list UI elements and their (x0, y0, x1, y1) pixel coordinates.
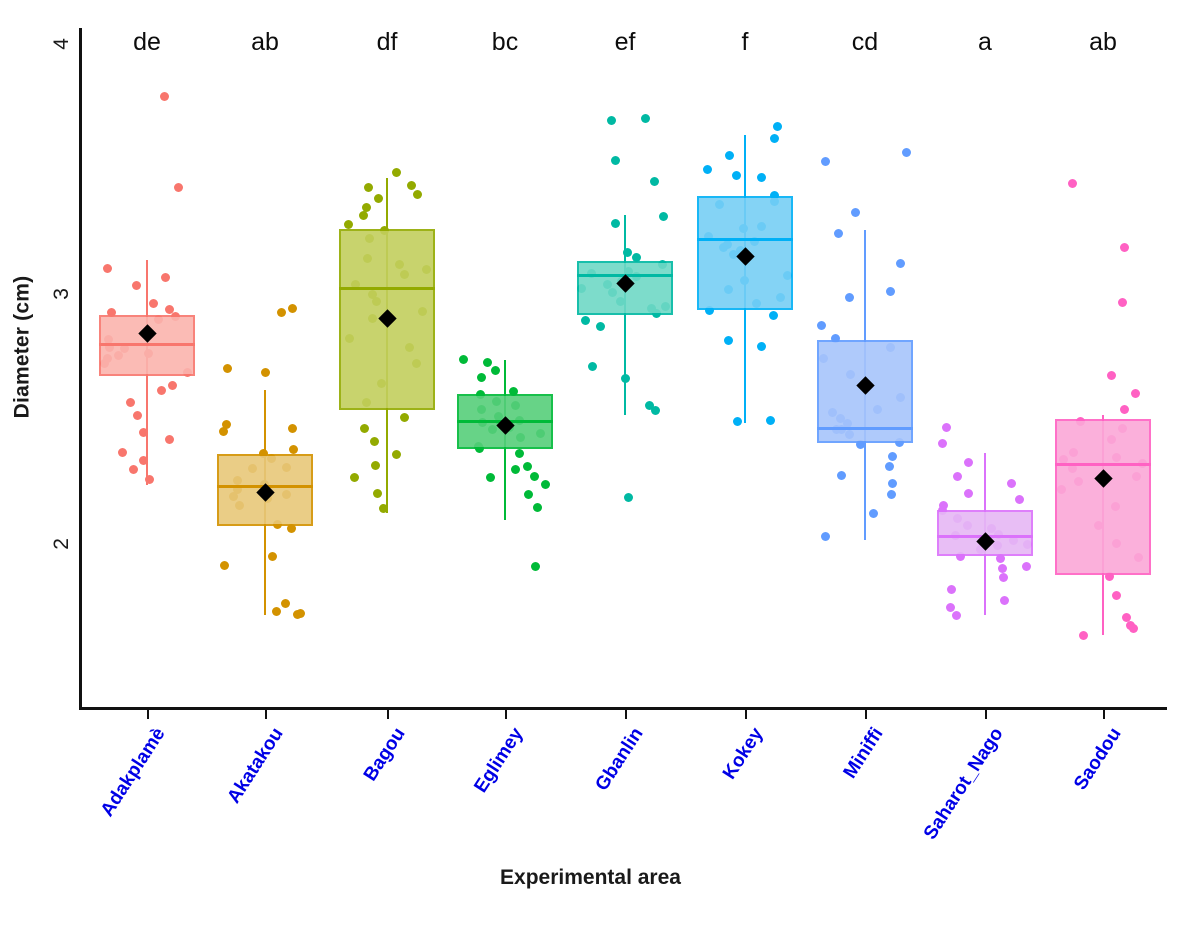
data-point (947, 585, 956, 594)
data-point (581, 316, 590, 325)
data-point (371, 461, 380, 470)
data-point (281, 599, 290, 608)
data-point (483, 358, 492, 367)
data-point (364, 183, 373, 192)
data-point (885, 462, 894, 471)
data-point (1007, 479, 1016, 488)
data-point (407, 181, 416, 190)
median-line (817, 427, 913, 430)
data-point (541, 480, 550, 489)
median-line (339, 287, 435, 290)
data-point (886, 287, 895, 296)
data-point (998, 564, 1007, 573)
data-point (533, 503, 542, 512)
data-point (103, 264, 112, 273)
data-point (379, 504, 388, 513)
data-point (168, 381, 177, 390)
data-point (732, 171, 741, 180)
data-point (817, 321, 826, 330)
data-point (157, 386, 166, 395)
data-point (530, 472, 539, 481)
data-point (360, 424, 369, 433)
data-point (296, 609, 305, 618)
data-point (623, 248, 632, 257)
data-point (770, 134, 779, 143)
data-point (1107, 371, 1116, 380)
data-point (611, 156, 620, 165)
data-point (773, 122, 782, 131)
data-point (1022, 562, 1031, 571)
data-point (511, 465, 520, 474)
data-point (651, 406, 660, 415)
x-axis-title: Experimental area (0, 866, 1181, 890)
data-point (370, 437, 379, 446)
data-point (953, 472, 962, 481)
box-saodou (1055, 419, 1151, 575)
data-point (174, 183, 183, 192)
data-point (769, 311, 778, 320)
data-point (821, 532, 830, 541)
data-point (288, 424, 297, 433)
data-point (139, 428, 148, 437)
data-point (261, 368, 270, 377)
data-point (392, 450, 401, 459)
data-point (724, 336, 733, 345)
data-point (902, 148, 911, 157)
data-point (757, 342, 766, 351)
data-point (289, 445, 298, 454)
plot-area (0, 0, 1181, 913)
data-point (477, 373, 486, 382)
data-point (220, 561, 229, 570)
data-point (126, 398, 135, 407)
data-point (145, 475, 154, 484)
data-point (486, 473, 495, 482)
data-point (129, 465, 138, 474)
data-point (344, 220, 353, 229)
data-point (223, 364, 232, 373)
data-point (160, 92, 169, 101)
median-line (1055, 463, 1151, 466)
data-point (834, 229, 843, 238)
data-point (277, 308, 286, 317)
data-point (374, 194, 383, 203)
data-point (118, 448, 127, 457)
data-point (733, 417, 742, 426)
data-point (491, 366, 500, 375)
data-point (659, 212, 668, 221)
data-point (888, 479, 897, 488)
data-point (1120, 243, 1129, 252)
data-point (845, 293, 854, 302)
data-point (149, 299, 158, 308)
data-point (524, 490, 533, 499)
boxplot-figure: Diameter (cm) 234 AdakplamèAkatakouBagou… (0, 0, 1181, 913)
data-point (887, 490, 896, 499)
data-point (896, 259, 905, 268)
data-point (1131, 389, 1140, 398)
data-point (607, 116, 616, 125)
data-point (1015, 495, 1024, 504)
data-point (725, 151, 734, 160)
data-point (413, 190, 422, 199)
data-point (611, 219, 620, 228)
data-point (350, 473, 359, 482)
data-point (624, 493, 633, 502)
data-point (641, 114, 650, 123)
data-point (766, 416, 775, 425)
data-point (821, 157, 830, 166)
data-point (999, 573, 1008, 582)
data-point (531, 562, 540, 571)
data-point (952, 611, 961, 620)
data-point (964, 489, 973, 498)
data-point (1129, 624, 1138, 633)
data-point (133, 411, 142, 420)
data-point (964, 458, 973, 467)
data-point (938, 439, 947, 448)
data-point (219, 427, 228, 436)
data-point (1068, 179, 1077, 188)
data-point (1118, 298, 1127, 307)
data-point (400, 413, 409, 422)
median-line (697, 238, 793, 241)
data-point (523, 462, 532, 471)
data-point (650, 177, 659, 186)
data-point (1120, 405, 1129, 414)
data-point (139, 456, 148, 465)
data-point (942, 423, 951, 432)
data-point (1112, 591, 1121, 600)
data-point (268, 552, 277, 561)
data-point (515, 449, 524, 458)
data-point (392, 168, 401, 177)
data-point (459, 355, 468, 364)
data-point (837, 471, 846, 480)
data-point (161, 273, 170, 282)
data-point (373, 489, 382, 498)
data-point (1079, 631, 1088, 640)
data-point (272, 607, 281, 616)
data-point (888, 452, 897, 461)
data-point (1000, 596, 1009, 605)
data-point (165, 435, 174, 444)
data-point (851, 208, 860, 217)
data-point (359, 211, 368, 220)
data-point (132, 281, 141, 290)
data-point (869, 509, 878, 518)
whisker-line (624, 215, 626, 415)
data-point (288, 304, 297, 313)
data-point (757, 173, 766, 182)
data-point (596, 322, 605, 331)
data-point (588, 362, 597, 371)
data-point (621, 374, 630, 383)
data-point (703, 165, 712, 174)
